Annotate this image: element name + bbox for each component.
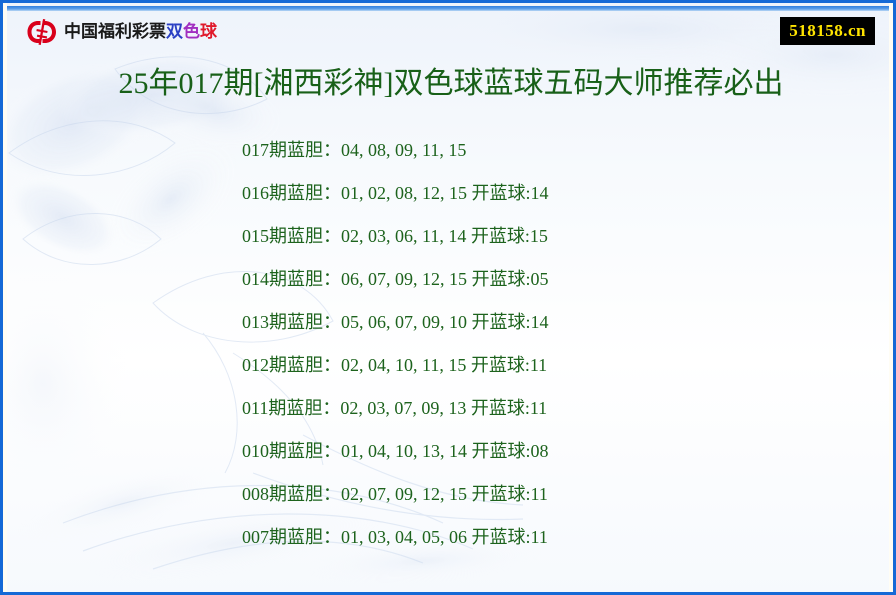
prediction-list: 017期蓝胆：04, 08, 09, 11, 15 016期蓝胆：01, 02,… [3, 129, 896, 559]
list-item: 007期蓝胆：01, 03, 04, 05, 06 开蓝球:11 [3, 516, 896, 559]
list-item: 016期蓝胆：01, 02, 08, 12, 15 开蓝球:14 [3, 172, 896, 215]
row-issue-label: 008期蓝胆 [242, 484, 323, 504]
list-item: 014期蓝胆：06, 07, 09, 12, 15 开蓝球:05 [3, 258, 896, 301]
page-header: 中国福利彩票双色球 518158.cn [3, 3, 896, 60]
list-item: 015期蓝胆：02, 03, 06, 11, 14 开蓝球:15 [3, 215, 896, 258]
row-result: 开蓝球:11 [467, 527, 548, 547]
row-numbers: 01, 04, 10, 13, 14 [341, 441, 467, 461]
list-item: 010期蓝胆：01, 04, 10, 13, 14 开蓝球:08 [3, 430, 896, 473]
row-issue-label: 010期蓝胆 [242, 441, 323, 461]
row-separator: ： [323, 226, 341, 246]
row-result: 开蓝球:08 [467, 441, 549, 461]
row-result: 开蓝球:14 [467, 312, 549, 332]
row-result: 开蓝球:11 [466, 398, 547, 418]
row-separator: ： [323, 441, 341, 461]
row-separator: ： [322, 398, 340, 418]
list-item: 017期蓝胆：04, 08, 09, 11, 15 [3, 129, 896, 172]
row-separator: ： [323, 527, 341, 547]
row-separator: ： [323, 269, 341, 289]
row-result: 开蓝球:05 [467, 269, 549, 289]
row-result: 开蓝球:15 [466, 226, 548, 246]
row-numbers: 01, 03, 04, 05, 06 [341, 527, 467, 547]
row-issue-label: 012期蓝胆 [242, 355, 323, 375]
row-separator: ： [323, 140, 341, 160]
row-issue-label: 013期蓝胆 [242, 312, 323, 332]
row-issue-label: 007期蓝胆 [242, 527, 323, 547]
brand-title-cn: 中国福利彩票 [64, 22, 166, 42]
row-result: 开蓝球:11 [466, 355, 547, 375]
row-numbers: 06, 07, 09, 12, 15 [341, 269, 467, 289]
row-issue-label: 014期蓝胆 [242, 269, 323, 289]
row-issue-label: 017期蓝胆 [242, 140, 323, 160]
row-numbers: 02, 04, 10, 11, 15 [341, 355, 466, 375]
row-result: 开蓝球:14 [467, 183, 549, 203]
row-separator: ： [323, 355, 341, 375]
page-root: 中国福利彩票双色球 518158.cn 25年017期[湘西彩神]双色球蓝球五码… [0, 0, 896, 595]
list-item: 013期蓝胆：05, 06, 07, 09, 10 开蓝球:14 [3, 301, 896, 344]
row-result: 开蓝球:11 [467, 484, 548, 504]
row-numbers: 02, 07, 09, 12, 15 [341, 484, 467, 504]
row-numbers: 01, 02, 08, 12, 15 [341, 183, 467, 203]
row-separator: ： [323, 484, 341, 504]
brand-ssq-char-1: 双 [166, 22, 183, 42]
brand-ssq-char-2: 色 [183, 22, 200, 42]
brand-lockup: 中国福利彩票双色球 [27, 17, 217, 47]
row-numbers: 05, 06, 07, 09, 10 [341, 312, 467, 332]
row-numbers: 02, 03, 06, 11, 14 [341, 226, 466, 246]
brand-title: 中国福利彩票双色球 [64, 24, 217, 41]
row-separator: ： [323, 312, 341, 332]
header-blue-band [6, 6, 896, 11]
page-title: 25年017期[湘西彩神]双色球蓝球五码大师推荐必出 [3, 65, 896, 103]
site-url-badge[interactable]: 518158.cn [780, 17, 875, 45]
row-numbers: 04, 08, 09, 11, 15 [341, 140, 466, 160]
row-issue-label: 011期蓝胆 [242, 398, 322, 418]
row-separator: ： [323, 183, 341, 203]
row-numbers: 02, 03, 07, 09, 13 [340, 398, 466, 418]
brand-ssq-char-3: 球 [200, 22, 217, 42]
list-item: 008期蓝胆：02, 07, 09, 12, 15 开蓝球:11 [3, 473, 896, 516]
china-welfare-lottery-emblem-icon [27, 19, 57, 45]
row-issue-label: 015期蓝胆 [242, 226, 323, 246]
row-issue-label: 016期蓝胆 [242, 183, 323, 203]
list-item: 011期蓝胆：02, 03, 07, 09, 13 开蓝球:11 [3, 387, 896, 430]
list-item: 012期蓝胆：02, 04, 10, 11, 15 开蓝球:11 [3, 344, 896, 387]
